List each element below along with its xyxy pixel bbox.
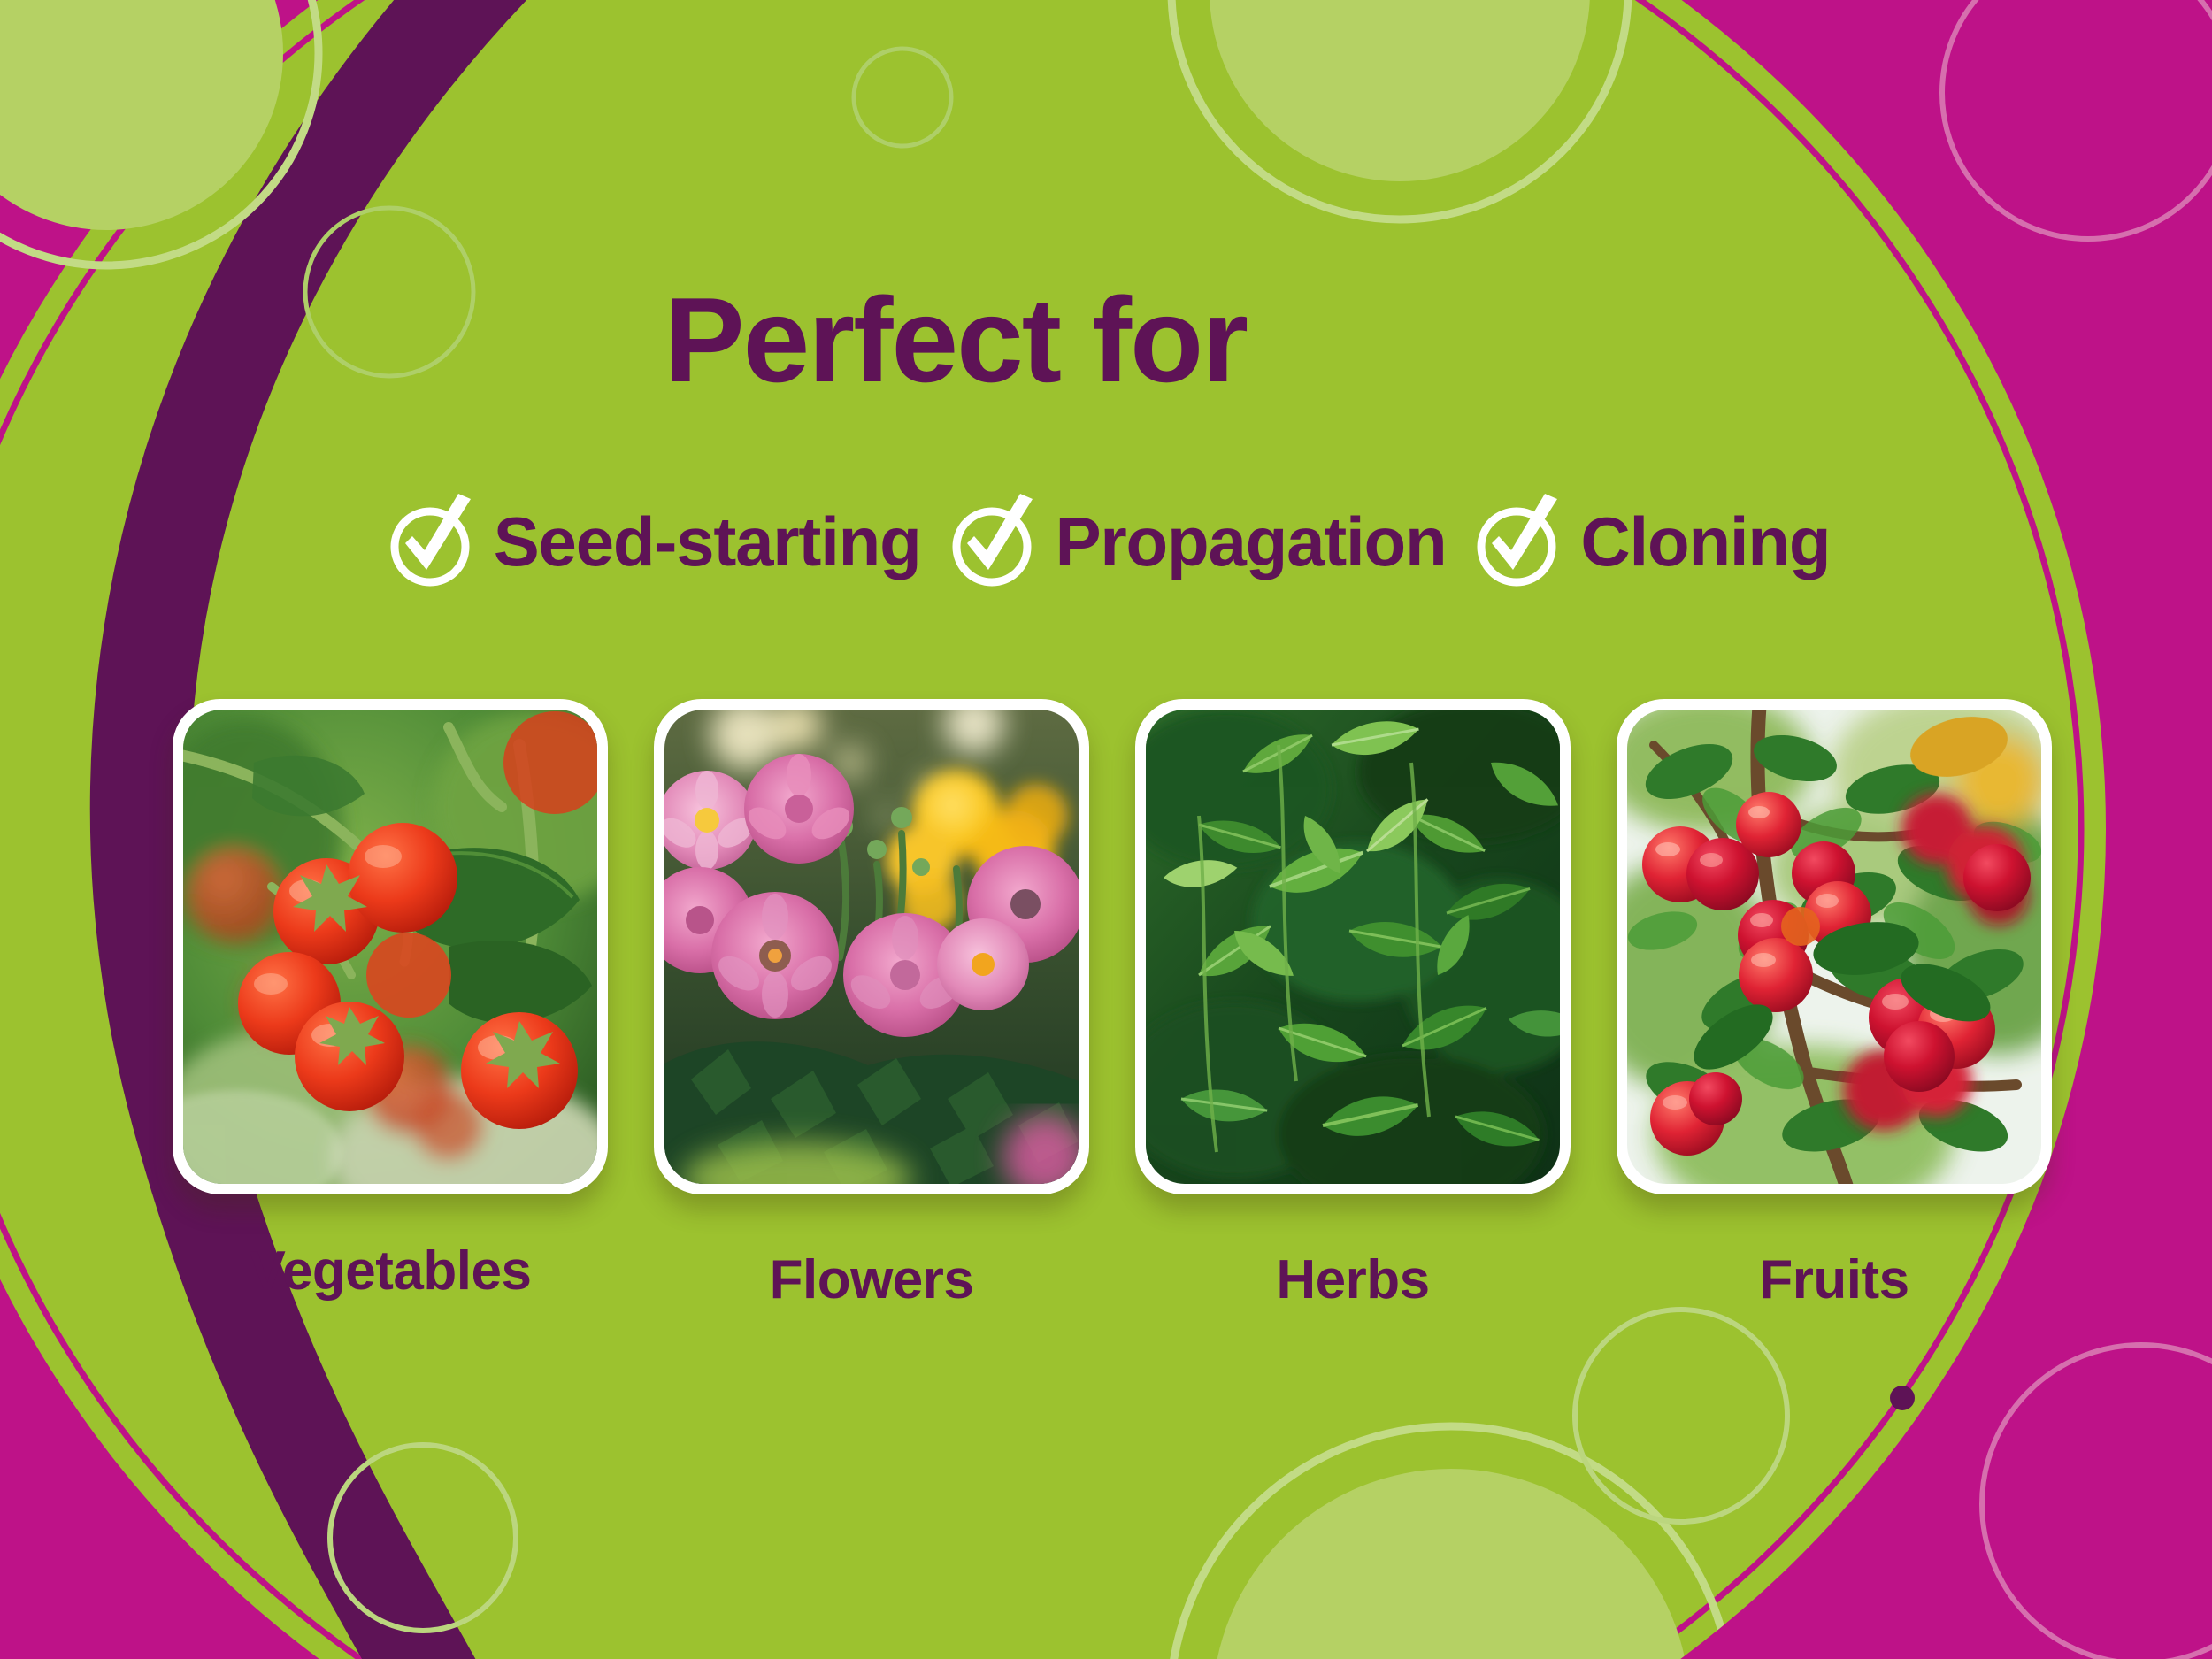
checklist-row: Seed-starting Propagation [0,492,2212,591]
category-card-label: Herbs [1276,1253,1429,1308]
category-card-fruits[interactable]: Fruits [1617,699,2052,1308]
slide-canvas: Perfect for Seed-starting [0,0,2212,1659]
photo-fruits-acerola-cherries [1627,710,2041,1184]
card-frame [173,699,608,1194]
check-circle-icon [944,492,1043,591]
photo-vegetables-tomatoes [183,710,597,1184]
category-card-label: Flowers [770,1253,974,1308]
slide-content: Perfect for Seed-starting [0,0,2212,1659]
category-card-vegetables[interactable]: Vegetables [173,699,608,1308]
check-circle-icon [382,492,481,591]
card-frame [1135,699,1571,1194]
card-frame [654,699,1089,1194]
category-card-label: Fruits [1759,1253,1909,1308]
photo-herbs-mint-foliage [1146,710,1560,1184]
card-frame [1617,699,2052,1194]
checklist-item-seed-starting: Seed-starting [382,492,921,591]
photo-flowers-dahlias [664,710,1079,1184]
check-circle-icon [1469,492,1568,591]
category-card-herbs[interactable]: Herbs [1135,699,1571,1308]
checklist-item-propagation: Propagation [944,492,1447,591]
checklist-item-label: Cloning [1580,507,1830,576]
checklist-item-label: Seed-starting [494,507,921,576]
checklist-item-label: Propagation [1056,507,1447,576]
category-card-flowers[interactable]: Flowers [654,699,1089,1308]
page-title: Perfect for [0,280,1911,400]
category-card-label: Vegetables [250,1244,532,1299]
checklist-item-cloning: Cloning [1469,492,1830,591]
category-card-row: Vegetables [173,699,2048,1308]
